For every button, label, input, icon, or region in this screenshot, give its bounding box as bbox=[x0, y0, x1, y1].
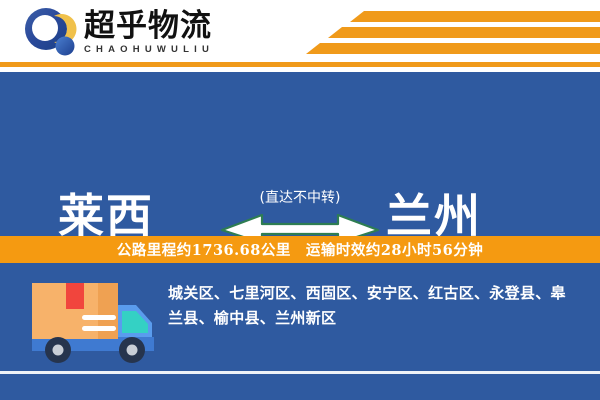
route-info-bar: 公路里程约1736.68公里 运输时效约28小时56分钟 bbox=[0, 236, 600, 263]
brand-text: 超乎物流 CHAOHUWULIU bbox=[84, 9, 214, 56]
stripe-3 bbox=[306, 43, 600, 54]
banner-header: 超乎物流 CHAOHUWULIU bbox=[0, 0, 600, 62]
delivery-truck-icon bbox=[26, 275, 166, 371]
route-section: 莱西 (直达不中转) 【往返运输】 兰州 bbox=[0, 72, 600, 236]
brand-name-en: CHAOHUWULIU bbox=[84, 44, 214, 56]
logistics-route-banner: 超乎物流 CHAOHUWULIU 莱西 (直达不中转) 【往返运输】 兰州 公路… bbox=[0, 0, 600, 400]
chaohu-circle-logo-icon bbox=[22, 6, 78, 58]
road-line bbox=[0, 371, 600, 374]
stripe-2 bbox=[328, 27, 600, 38]
distance-duration-text: 公路里程约1736.68公里 运输时效约28小时56分钟 bbox=[117, 239, 483, 260]
direct-note: (直达不中转) bbox=[210, 190, 390, 206]
header-stripes bbox=[300, 6, 600, 58]
destination-city: 兰州 bbox=[386, 190, 482, 242]
stripe-1 bbox=[350, 11, 600, 22]
brand-name-cn: 超乎物流 bbox=[84, 9, 214, 43]
brand-logo: 超乎物流 CHAOHUWULIU bbox=[22, 6, 214, 58]
coverage-section: 城关区、七里河区、西固区、安宁区、红古区、永登县、皋兰县、榆中县、兰州新区 bbox=[0, 263, 600, 400]
coverage-area-list: 城关区、七里河区、西固区、安宁区、红古区、永登县、皋兰县、榆中县、兰州新区 bbox=[168, 281, 580, 331]
origin-city: 莱西 bbox=[58, 190, 154, 242]
